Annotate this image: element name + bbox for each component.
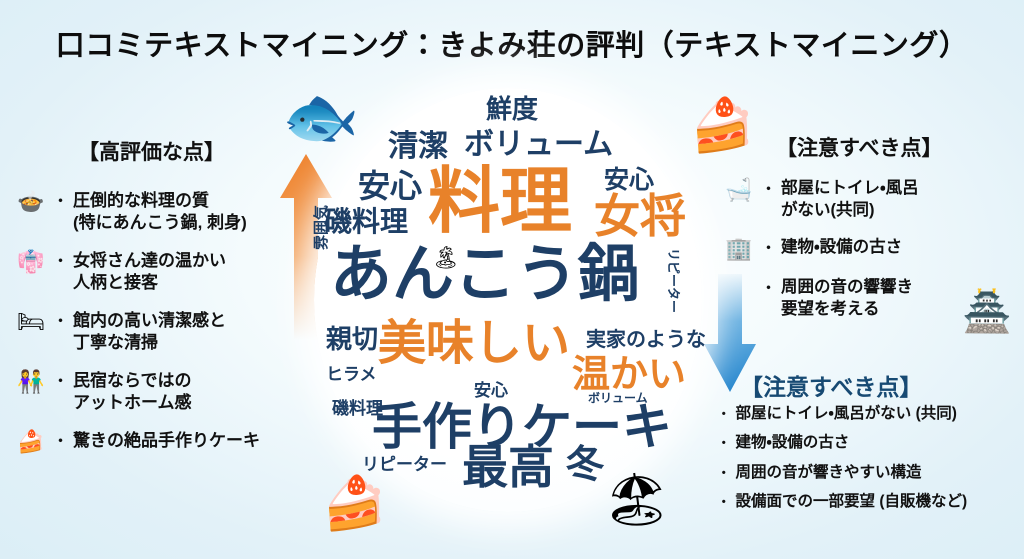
positive-points-list: 🍲・圧倒的な料理の質 (特にあんこう鍋, 刺身)👘・女将さん達の温かい 人柄と接…	[14, 190, 304, 470]
caution-summary-list: ・部屋にトイレ・風呂がない (共同)・建物・設備の古さ・周囲の音が響きやすい構造…	[716, 404, 1024, 522]
word-cloud-term: 冬	[566, 446, 604, 484]
list-item-label: 女将さん達の温かい 人柄と接客	[73, 250, 226, 295]
right-panel-heading-2: 【注意すべき点】	[740, 368, 922, 402]
word-cloud-term: 清潔	[388, 132, 448, 162]
list-item: ・設備面での一部要望 (自販機など)	[716, 492, 1024, 513]
word-cloud-term: 最高	[462, 444, 554, 490]
word-cloud-term: ヒラメ	[326, 366, 377, 383]
list-item-label: 民宿ならではの アットホーム感	[73, 370, 192, 415]
bullet-marker: ・	[716, 463, 732, 484]
bullet-marker: ・	[716, 433, 732, 454]
list-item: 🏢・建物・設備の古さ	[722, 237, 1022, 262]
anglerfish-hotpot-icon: 🐟	[282, 86, 359, 148]
word-cloud-term: 女将	[594, 193, 686, 239]
list-item: ・周囲の音が響きやすい構造	[716, 463, 1024, 484]
bullet-marker: ・	[760, 237, 777, 260]
word-cloud-term: ボリューム	[464, 130, 613, 160]
word-cloud-term: リピーター	[667, 248, 680, 313]
word-cloud-term: 雰囲気	[314, 205, 329, 250]
list-item-label: 周囲の音が響きやすい構造	[736, 463, 922, 483]
list-item-label: 部屋にトイレ・風呂がない (共同)	[736, 404, 957, 424]
left-panel-heading: 【高評価な点】	[78, 136, 225, 166]
bullet-marker: ・	[52, 430, 69, 453]
bullet-marker: ・	[760, 277, 777, 300]
list-item-label: 建物・設備の古さ	[736, 433, 850, 453]
sparkling-bed-icon: 🛏	[14, 310, 48, 335]
japanese-castle-icon: 🏯	[962, 292, 1012, 332]
list-item: 🍲・圧倒的な料理の質 (特にあんこう鍋, 刺身)	[14, 190, 304, 235]
list-item: ・部屋にトイレ・風呂がない (共同)	[716, 404, 1024, 425]
word-cloud-term: 実家のような	[586, 330, 706, 350]
list-item-label: 驚きの絶品手作りケーキ	[73, 430, 260, 452]
list-item-label: 部屋にトイレ・風呂 がない(共同)	[781, 178, 919, 222]
word-cloud-term: あんこう鍋	[330, 244, 640, 306]
bullet-marker: ・	[716, 404, 732, 425]
word-cloud-term: 磯料理	[324, 208, 408, 236]
list-item-label: 館内の高い清潔感と 丁寧な清掃	[73, 310, 226, 355]
word-cloud-term: 安心	[474, 382, 508, 399]
elderly-couple-icon: 👫	[14, 370, 48, 395]
word-cloud-term: リピーター	[362, 456, 447, 473]
list-item-label: 建物・設備の古さ	[781, 237, 902, 259]
list-item: 🛏・館内の高い清潔感と 丁寧な清掃	[14, 310, 304, 355]
strawberry-cake-icon: 🍰	[690, 100, 755, 152]
list-item: ・建物・設備の古さ	[716, 433, 1024, 454]
list-item: 👘・女将さん達の温かい 人柄と接客	[14, 250, 304, 295]
bullet-marker: ・	[52, 310, 69, 333]
stew-pot-icon: 🍲	[14, 190, 48, 215]
list-item: 🛁・部屋にトイレ・風呂 がない(共同)	[722, 178, 1022, 222]
bullet-marker: ・	[52, 190, 69, 213]
word-cloud-term: 温かい	[572, 356, 686, 394]
page-title: 口コミテキストマイニング：きよみ荘の評判（テキストマイニング）	[0, 22, 1024, 64]
word-cloud-term: 料理	[428, 166, 572, 238]
list-item-label: 圧倒的な料理の質 (特にあんこう鍋, 刺身)	[73, 190, 247, 235]
bullet-marker: ・	[760, 178, 777, 201]
shortcake-icon: 🍰	[14, 430, 48, 455]
bullet-marker: ・	[716, 492, 732, 513]
building-icon: 🏢	[722, 237, 756, 262]
word-cloud-term: 安心	[358, 170, 422, 202]
bullet-marker: ・	[52, 370, 69, 393]
list-item-label: 設備面での一部要望 (自販機など)	[736, 492, 968, 512]
word-cloud-term: 親切	[326, 326, 378, 352]
word-cloud: 鮮度清潔ボリューム安心安心料理女将磯料理雰囲気あんこう鍋リピーター親切美味しい実…	[314, 88, 702, 512]
list-item-label: 周囲の音の響響き 要望を考える	[781, 277, 913, 321]
word-cloud-term: 美味しい	[378, 320, 570, 368]
right-panel-heading: 【注意すべき点】	[776, 132, 943, 162]
shortcake-bottom-icon: 🍰	[322, 478, 387, 530]
word-cloud-term: 鮮度	[486, 96, 538, 122]
list-item: 👫・民宿ならではの アットホーム感	[14, 370, 304, 415]
list-item: 🍰・驚きの絶品手作りケーキ	[14, 430, 304, 455]
beach-scene-icon: 🏖	[604, 474, 670, 526]
bathtub-icon: 🛁	[722, 178, 756, 203]
beach-island-icon: 🏝	[432, 248, 460, 270]
kimono-woman-icon: 👘	[14, 250, 48, 275]
bullet-marker: ・	[52, 250, 69, 273]
blue-down-arrow-icon	[700, 272, 760, 396]
poster-canvas: 口コミテキストマイニング：きよみ荘の評判（テキストマイニング） 【高評価な点】 …	[0, 0, 1024, 559]
